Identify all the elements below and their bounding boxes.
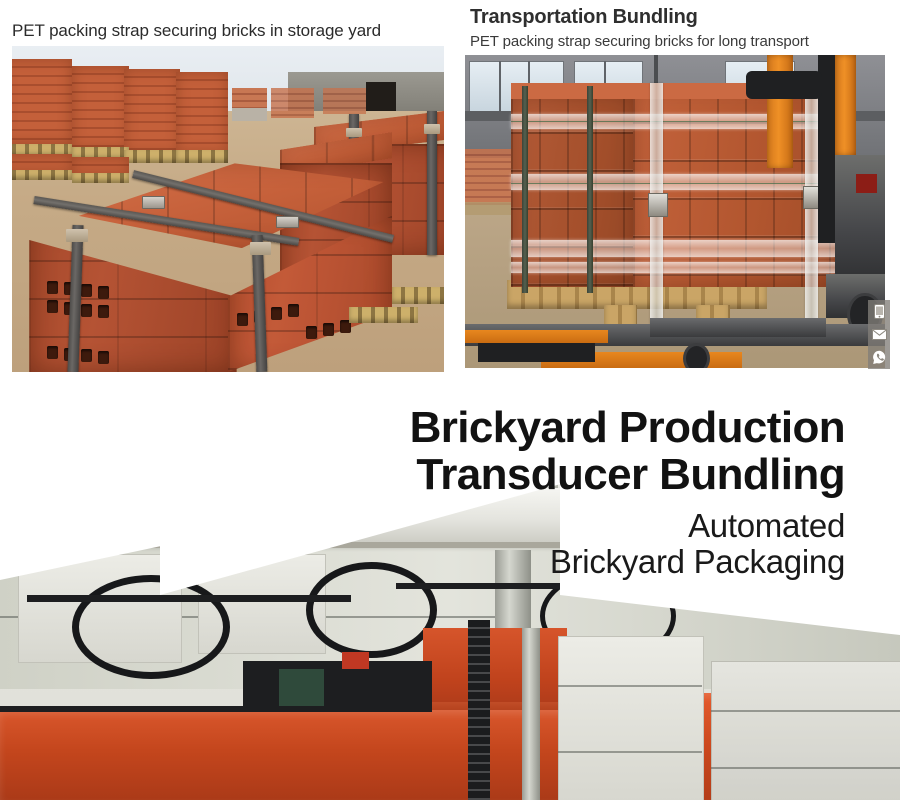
left-image-card: PET packing strap securing bricks in sto… xyxy=(0,0,444,378)
hero-headline-line-2: Transducer Bundling xyxy=(245,451,845,498)
bottom-hero-banner: Brickyard Production Transducer Bundling… xyxy=(0,390,900,800)
hero-headline: Brickyard Production Transducer Bundling xyxy=(245,404,845,498)
hero-subheadline-line-1: Automated xyxy=(245,508,845,544)
hero-subheadline: Automated Brickyard Packaging xyxy=(245,508,845,580)
hero-headline-line-1: Brickyard Production xyxy=(245,404,845,451)
floating-contact-icon-bar[interactable] xyxy=(868,300,890,369)
transport-bundling-photo xyxy=(465,55,885,368)
whatsapp-icon[interactable] xyxy=(868,346,890,369)
top-image-pair-section: PET packing strap securing bricks in sto… xyxy=(0,0,900,378)
mobile-phone-icon[interactable] xyxy=(868,300,890,323)
storage-yard-photo xyxy=(12,46,444,372)
hero-text-block: Brickyard Production Transducer Bundling… xyxy=(245,404,845,580)
right-card-subtitle: PET packing strap securing bricks for lo… xyxy=(470,33,809,50)
right-card-title: Transportation Bundling xyxy=(470,6,698,29)
right-image-card: Transportation Bundling PET packing stra… xyxy=(458,0,900,378)
left-image-caption: PET packing strap securing bricks in sto… xyxy=(12,16,432,46)
hero-subheadline-line-2: Brickyard Packaging xyxy=(245,544,845,580)
envelope-icon[interactable] xyxy=(868,323,890,346)
